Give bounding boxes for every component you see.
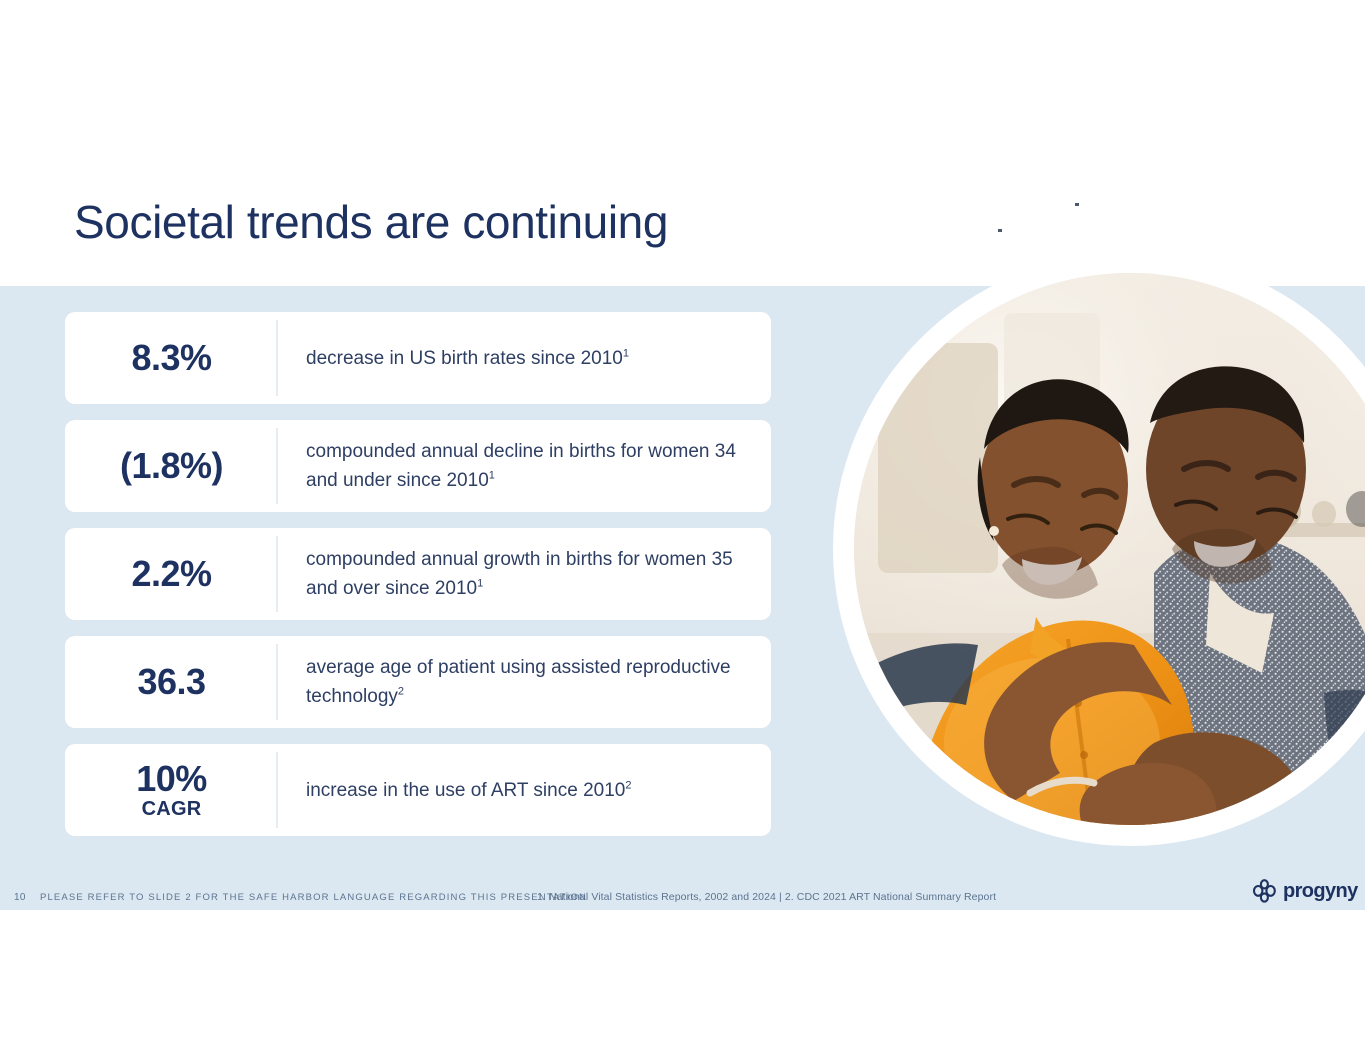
footnote-marker: 2 [625, 779, 631, 791]
stat-card-list: 8.3% decrease in US birth rates since 20… [65, 312, 771, 852]
stat-card-value-cell: 10% CAGR [65, 744, 278, 836]
stat-value: 10% [136, 760, 207, 798]
speck-artifact-icon [998, 229, 1002, 232]
page-number: 10 [14, 892, 26, 903]
footnote-marker: 1 [489, 470, 495, 482]
stat-card-description-cell: average age of patient using assisted re… [278, 636, 771, 728]
stat-value: 8.3% [131, 339, 211, 377]
footnote-marker: 1 [477, 578, 483, 590]
progyny-wordmark: progyny [1283, 881, 1358, 901]
stat-card-value-cell: 2.2% [65, 528, 278, 620]
stat-value: (1.8%) [120, 447, 223, 485]
footer: 10 PLEASE REFER TO SLIDE 2 FOR THE SAFE … [0, 884, 1365, 910]
photo-illustration-icon [854, 273, 1365, 825]
stat-description: increase in the use of ART since 20102 [306, 776, 631, 805]
footnote-marker: 1 [623, 347, 629, 359]
stat-value: 2.2% [131, 555, 211, 593]
stat-value-sublabel: CAGR [142, 798, 202, 820]
stat-description: compounded annual decline in births for … [306, 437, 745, 495]
stat-description: decrease in US birth rates since 20101 [306, 344, 629, 373]
stat-card: 2.2% compounded annual growth in births … [65, 528, 771, 620]
stat-card-value-cell: (1.8%) [65, 420, 278, 512]
page-title: Societal trends are continuing [74, 192, 668, 252]
stat-description: average age of patient using assisted re… [306, 653, 745, 711]
stat-description: compounded annual growth in births for w… [306, 545, 745, 603]
stat-card-description-cell: increase in the use of ART since 20102 [278, 744, 771, 836]
stat-card-description-cell: compounded annual growth in births for w… [278, 528, 771, 620]
stat-card: 36.3 average age of patient using assist… [65, 636, 771, 728]
progyny-mark-icon [1252, 879, 1278, 903]
stat-card: (1.8%) compounded annual decline in birt… [65, 420, 771, 512]
stat-card-description-cell: decrease in US birth rates since 20101 [278, 312, 771, 404]
expectant-couple-photo [854, 273, 1365, 825]
stat-card-value-cell: 8.3% [65, 312, 278, 404]
progyny-logo: progyny [1252, 879, 1358, 903]
stat-card: 10% CAGR increase in the use of ART sinc… [65, 744, 771, 836]
source-citation: 1. National Vital Statistics Reports, 20… [537, 891, 996, 903]
slide: Societal trends are continuing [0, 0, 1365, 1055]
footnote-marker: 2 [398, 686, 404, 698]
safe-harbor-notice: PLEASE REFER TO SLIDE 2 FOR THE SAFE HAR… [40, 892, 587, 903]
stat-card: 8.3% decrease in US birth rates since 20… [65, 312, 771, 404]
stat-value: 36.3 [137, 663, 205, 701]
stat-card-value-cell: 36.3 [65, 636, 278, 728]
speck-artifact-icon [1075, 203, 1079, 206]
stat-card-description-cell: compounded annual decline in births for … [278, 420, 771, 512]
